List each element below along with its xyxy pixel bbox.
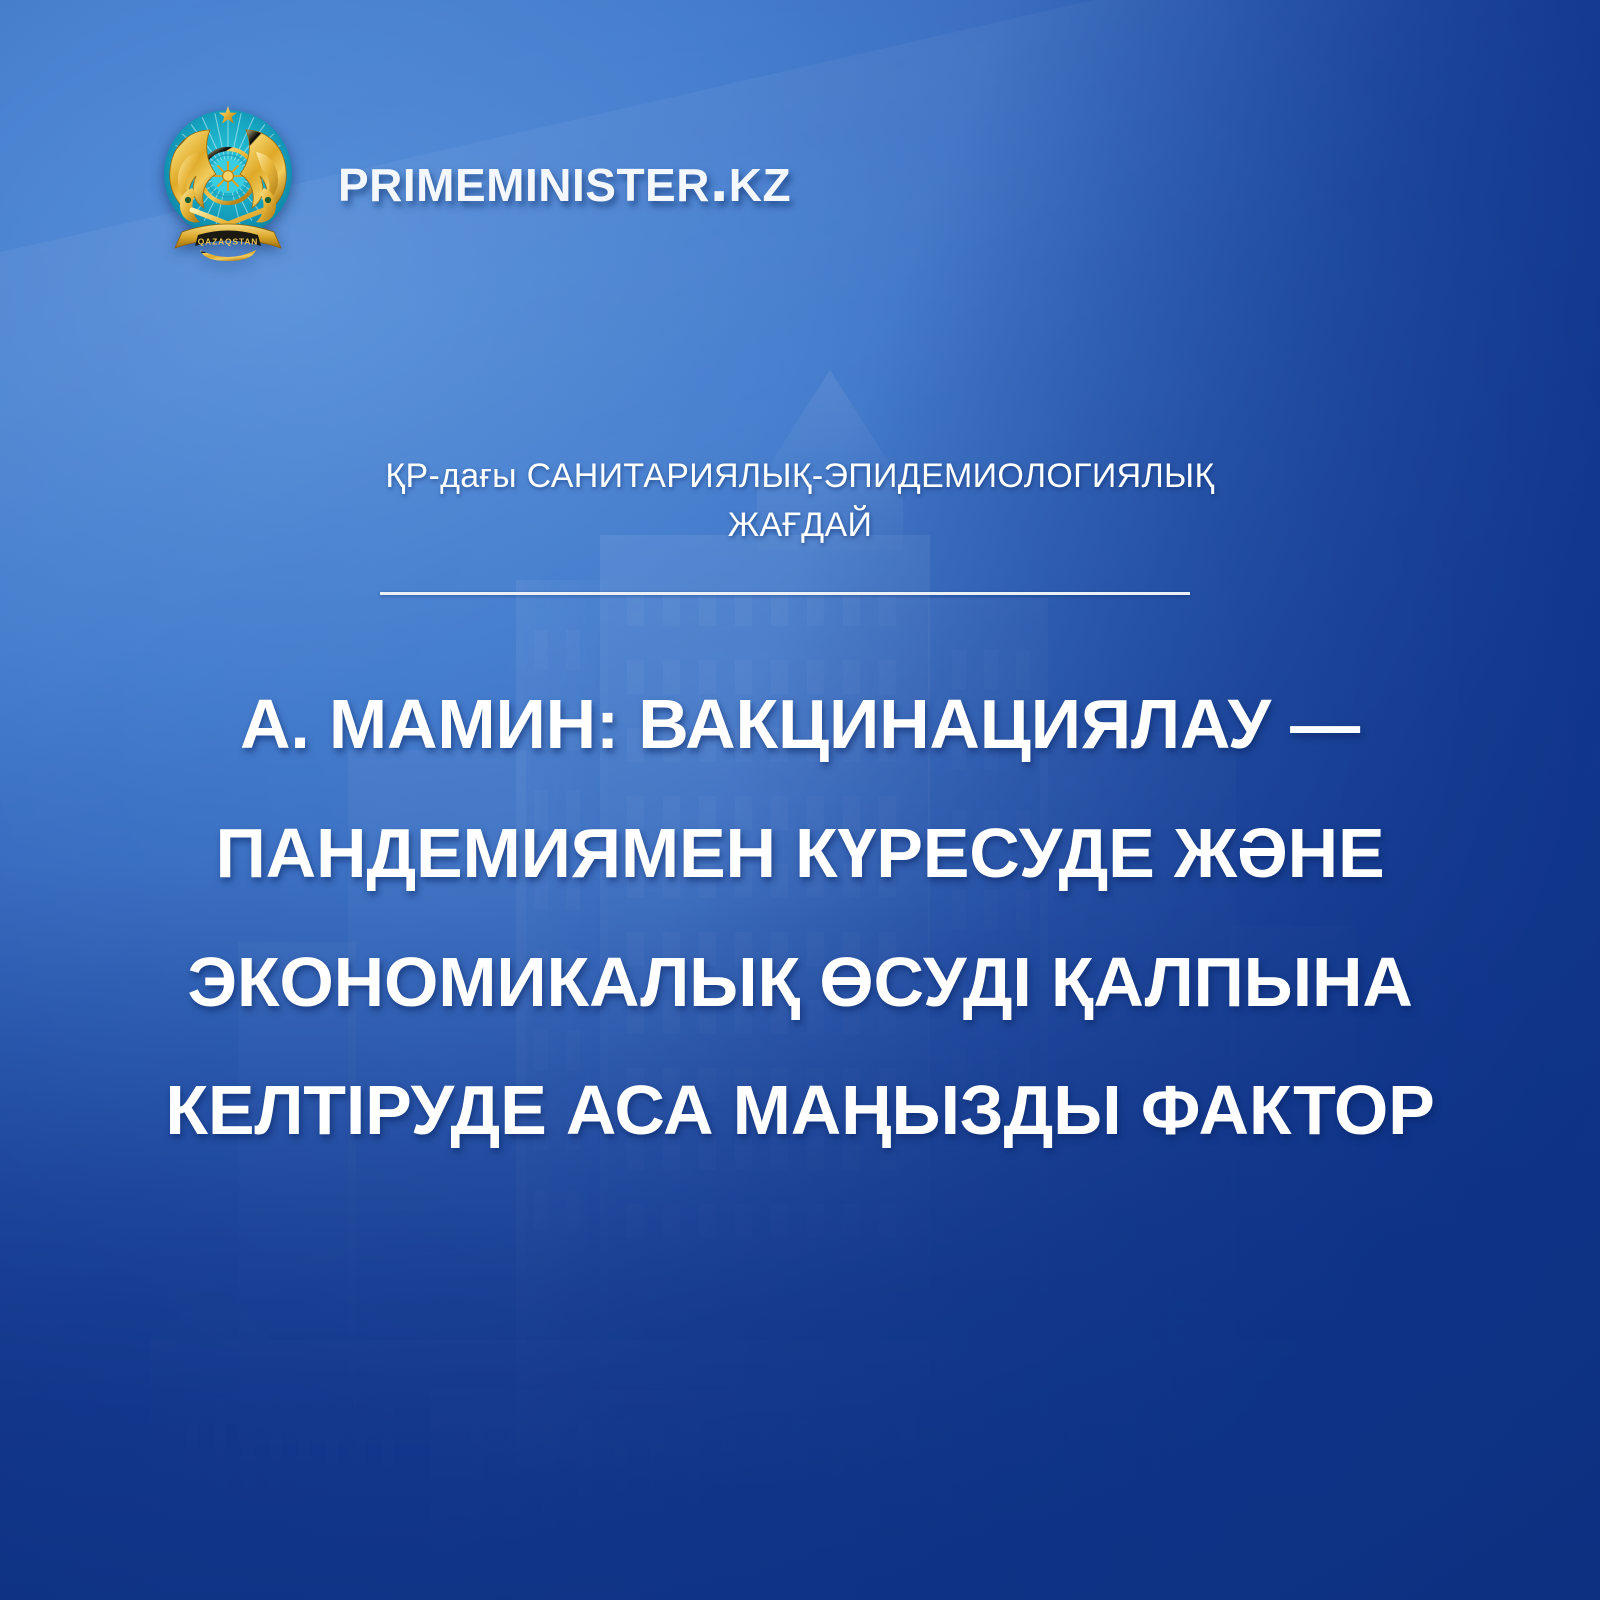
page-title-line-1: А. МАМИН: ВАКЦИНАЦИЯЛАУ — (60, 660, 1540, 789)
section-subtitle: ҚР-дағы САНИТАРИЯЛЫҚ-ЭПИДЕМИОЛОГИЯЛЫҚ ЖА… (325, 452, 1275, 550)
page-title: А. МАМИН: ВАКЦИНАЦИЯЛАУ — ПАНДЕМИЯМЕН КҮ… (60, 660, 1540, 1175)
emblem-ribbon-text: QAZAQSTAN (198, 236, 259, 246)
section-subtitle-line-1: ҚР-дағы САНИТАРИЯЛЫҚ-ЭПИДЕМИОЛОГИЯЛЫҚ (385, 457, 1214, 495)
page-title-line-3: ЭКОНОМИКАЛЫҚ ӨСУДІ ҚАЛПЫНА (60, 918, 1540, 1047)
section-subtitle-line-2: ЖАҒДАЙ (728, 506, 872, 544)
header-divider (380, 592, 1190, 595)
page-title-line-4: КЕЛТІРУДЕ АСА МАҢЫЗДЫ ФАКТОР (60, 1046, 1540, 1175)
site-wordmark[interactable]: PrimeMinister.KZ (338, 145, 791, 211)
poster-canvas: QAZAQSTAN PrimeMinister.KZ ҚР-дағы САНИТ… (0, 0, 1600, 1600)
brand-header[interactable]: QAZAQSTAN PrimeMinister.KZ (148, 92, 791, 264)
kazakhstan-state-emblem-icon: QAZAQSTAN (148, 92, 308, 264)
page-title-line-2: ПАНДЕМИЯМЕН КҮРЕСУДЕ ЖӘНЕ (60, 789, 1540, 918)
